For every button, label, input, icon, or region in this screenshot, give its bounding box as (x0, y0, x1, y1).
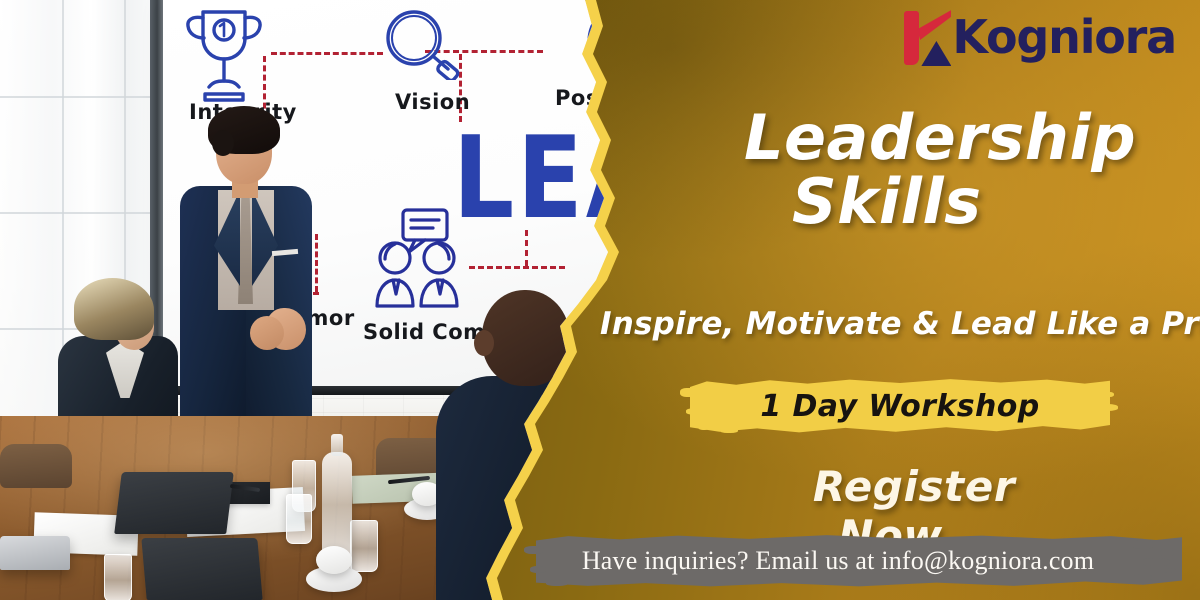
workshop-duration-badge: 1 Day Workshop (690, 378, 1110, 434)
event-banner-poster: LEADER Integrity Vision Positive Humor S… (0, 0, 1200, 600)
title-line-2: Skills (744, 172, 1176, 232)
contact-text[interactable]: Have inquiries? Email us at info@kognior… (536, 534, 1182, 588)
kogniora-k-logo-icon (904, 9, 950, 65)
brand-logo[interactable]: Kogniora (904, 6, 1176, 68)
trophy-icon (179, 2, 269, 106)
title-line-1: Leadership (744, 101, 1136, 174)
page-title: Leadership Skills (744, 108, 1176, 231)
vision-label: Vision (395, 90, 470, 114)
presenter-person (174, 100, 320, 430)
brand-name: Kogniora (952, 14, 1176, 60)
magnifier-icon (381, 8, 473, 80)
workshop-duration-label: 1 Day Workshop (690, 378, 1110, 434)
whiteboard-leader-word: LEADER (453, 112, 668, 244)
contact-banner: Have inquiries? Email us at info@kognior… (536, 534, 1182, 588)
meeting-photo: LEADER Integrity Vision Positive Humor S… (0, 0, 668, 600)
tagline: Inspire, Motivate & Lead Like a Pro! (600, 306, 1200, 342)
